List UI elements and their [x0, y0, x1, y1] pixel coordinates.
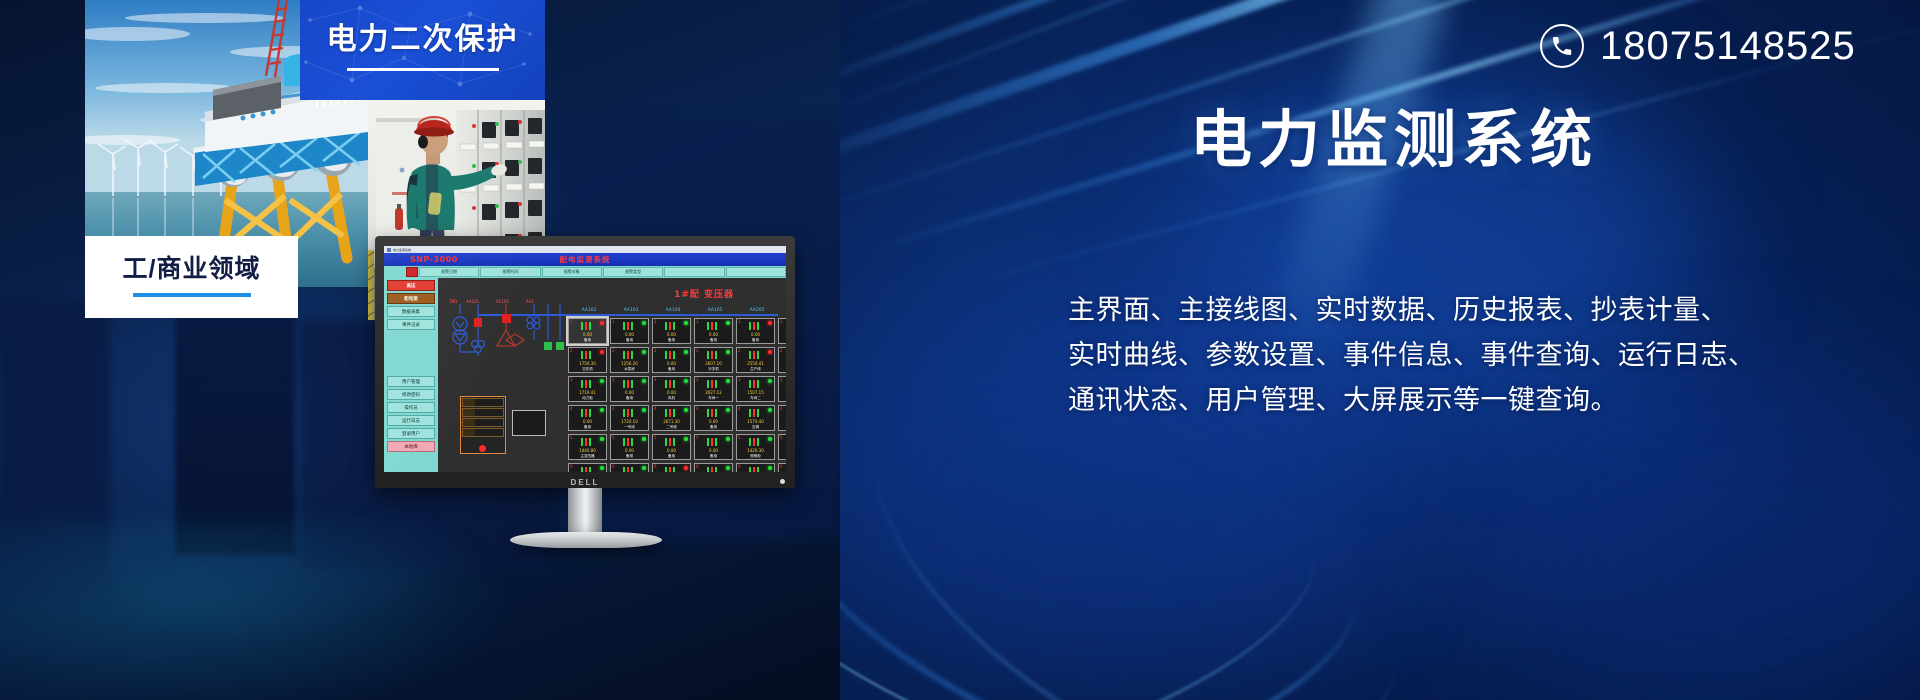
cell-value: 0.00 [569, 419, 606, 424]
cell-name: 备用 [611, 338, 648, 343]
sidebar-item-0[interactable]: 高压 [387, 280, 435, 291]
monitor-stand-base [510, 532, 662, 548]
cell-value: 0.00 [611, 448, 648, 453]
cell-phase-bars [623, 438, 633, 446]
cell-status-led [768, 437, 772, 441]
cell-phase-bars [581, 380, 591, 388]
cell-name: 空压机 [569, 367, 606, 372]
cell-phase-bars [665, 409, 675, 417]
cell-phase-bars [749, 380, 759, 388]
cell-index: 6 [570, 464, 573, 469]
sidebar-item-2[interactable]: 数据采集 [387, 306, 435, 317]
cell-value: 1750.30 [569, 361, 606, 366]
cell-name: 二号线 [653, 425, 690, 430]
cell-index: 6 [780, 464, 783, 469]
cell-phase-bars [749, 409, 759, 417]
monitor-power-led[interactable] [780, 479, 785, 484]
cell-value: 4442.10 [779, 448, 786, 453]
cell-phase-bars [707, 467, 717, 472]
cell-value: 0.00 [737, 332, 774, 337]
sidebar-item-1[interactable]: 配电室 [387, 293, 435, 304]
feeder-label-2: AA104 [652, 308, 694, 313]
cell-value: 0.00 [779, 332, 786, 337]
orange-panel-row [462, 428, 504, 437]
scada-banner: SNP-3000 配电监测系统 [384, 253, 786, 266]
cell-name: 动力柜 [569, 396, 606, 401]
cell-name: 备用 [737, 338, 774, 343]
orange-status-panel [460, 396, 506, 454]
cell-index: 5 [780, 435, 783, 440]
cell-value: 0.00 [611, 390, 648, 395]
cell-index: 1 [570, 319, 573, 324]
cell-index: 1 [612, 319, 615, 324]
device-cell-20[interactable]: 42671.30二号线 [652, 405, 691, 431]
cell-index: 4 [696, 406, 699, 411]
cell-value: 2890.60 [779, 361, 786, 366]
cell-value: 2342.10 [779, 419, 786, 424]
device-cell-grid[interactable]: 10.00备用10.00备用10.00备用10.00备用10.00备用10.00… [568, 318, 786, 472]
cell-index: 1 [738, 319, 741, 324]
device-cell-24[interactable]: 51440.80主变压器 [568, 434, 607, 460]
cell-phase-bars [707, 322, 717, 330]
cell-phase-bars [623, 467, 633, 472]
phone-icon [1540, 24, 1584, 68]
cell-value: 0.00 [653, 390, 690, 395]
sidebar-item-3[interactable]: 事件记录 [387, 319, 435, 330]
contact-phone[interactable]: 18075148525 [1540, 24, 1856, 68]
device-cell-30[interactable]: 60.00备用 [568, 463, 607, 472]
cell-value: 0.00 [653, 332, 690, 337]
device-cell-25[interactable]: 50.00备用 [610, 434, 649, 460]
cell-value: 0.00 [653, 361, 690, 366]
cell-status-led [642, 350, 646, 354]
device-cell-8[interactable]: 20.00备用 [652, 347, 691, 373]
cell-phase-bars [707, 351, 717, 359]
cell-value: 1256.20 [611, 361, 648, 366]
cell-name: 水泵房 [611, 367, 648, 372]
phone-number: 18075148525 [1600, 26, 1856, 66]
cell-phase-bars [623, 409, 633, 417]
badge-blue-label: 电力二次保护 [327, 25, 519, 55]
menu-item-1[interactable]: 报警时间 [480, 267, 540, 277]
diagram-title: 1#配 变压器 [674, 287, 734, 300]
cell-name: 备用 [779, 338, 786, 343]
device-cell-6[interactable]: 21750.30空压机 [568, 347, 607, 373]
cell-index: 5 [654, 435, 657, 440]
cell-status-led [684, 379, 688, 383]
feature-line-2: 实时曲线、参数设置、事件信息、事件查询、运行日志、 [1068, 333, 1868, 378]
cell-phase-bars [581, 409, 591, 417]
cell-index: 5 [738, 435, 741, 440]
feeder-label-4: AA205 [736, 308, 778, 313]
cell-index: 6 [738, 464, 741, 469]
device-cell-14[interactable]: 30.00风机 [652, 376, 691, 402]
badge-white-rule [133, 293, 251, 297]
cell-index: 5 [612, 435, 615, 440]
scada-screen: 电力监测系统 SNP-3000 配电监测系统 报警日期 报警时间 报警对象 报警… [384, 246, 786, 472]
menu-item-3[interactable]: 报警类型 [603, 267, 663, 277]
cell-value: 1730.30 [779, 390, 786, 395]
device-cell-2[interactable]: 10.00备用 [652, 318, 691, 344]
cell-value: 2671.30 [653, 419, 690, 424]
device-cell-29[interactable]: 54442.10动力 [778, 434, 786, 460]
device-cell-10[interactable]: 22550.41生产线 [736, 347, 775, 373]
cell-phase-bars [665, 467, 675, 472]
device-cell-31[interactable]: 60.00备用 [610, 463, 649, 472]
cell-index: 3 [654, 377, 657, 382]
device-cell-9[interactable]: 22607.10冷冻机 [694, 347, 733, 373]
cell-status-led [684, 350, 688, 354]
cell-status-led [768, 466, 772, 470]
cell-name: 备用 [611, 454, 648, 459]
scada-body: 高压配电室数据采集事件记录用户管理修改密码操作员运行日志登录用户本地库 1#配 … [384, 278, 786, 472]
cell-status-led [684, 408, 688, 412]
cell-name: 冷冻机 [695, 367, 732, 372]
device-cell-16[interactable]: 31507.15车间二 [736, 376, 775, 402]
cell-value: 0.00 [695, 332, 732, 337]
cell-value: 1570.40 [737, 419, 774, 424]
cell-index: 2 [570, 348, 573, 353]
cell-index: 2 [696, 348, 699, 353]
cell-name: 风机 [653, 396, 690, 401]
device-cell-13[interactable]: 30.00备用 [610, 376, 649, 402]
cell-status-led [600, 437, 604, 441]
cell-phase-bars [665, 322, 675, 330]
cell-index: 3 [696, 377, 699, 382]
cell-status-led [726, 321, 730, 325]
device-cell-1[interactable]: 10.00备用 [610, 318, 649, 344]
cell-status-led [642, 466, 646, 470]
device-cell-7[interactable]: 21256.20水泵房 [610, 347, 649, 373]
secondary-status-panel [512, 410, 546, 436]
device-cell-17[interactable]: 31730.30配电柜 [778, 376, 786, 402]
cell-name: 生产线 [737, 367, 774, 372]
cell-index: 4 [570, 406, 573, 411]
cell-status-led [768, 379, 772, 383]
device-cell-22[interactable]: 41570.40空调 [736, 405, 775, 431]
cell-phase-bars [623, 380, 633, 388]
cell-name: 照明 [779, 367, 786, 372]
cell-phase-bars [581, 351, 591, 359]
alarm-stop-button[interactable] [406, 267, 418, 277]
device-cell-11[interactable]: 22890.60照明 [778, 347, 786, 373]
cell-index: 4 [654, 406, 657, 411]
sidebar-item-9[interactable]: 本地库 [387, 441, 435, 452]
cell-status-led [642, 379, 646, 383]
cell-index: 2 [612, 348, 615, 353]
menu-item-0[interactable]: 报警日期 [419, 267, 479, 277]
monitor-display: 电力监测系统 SNP-3000 配电监测系统 报警日期 报警时间 报警对象 报警… [375, 236, 795, 536]
cell-name: 一号线 [611, 425, 648, 430]
sld-label-3: AA1 [526, 299, 534, 304]
sidebar-item-7[interactable]: 运行日志 [387, 415, 435, 426]
scada-main-panel: 1#配 变压器 [438, 278, 786, 472]
single-line-diagram: TM1 AA101 AC101 AA1 [444, 300, 564, 390]
cell-phase-bars [665, 380, 675, 388]
cell-phase-bars [749, 467, 759, 472]
sld-label-2: AC101 [496, 299, 509, 304]
cell-status-led [726, 408, 730, 412]
cell-name: 备用 [653, 454, 690, 459]
feeder-label-3: AA105 [694, 308, 736, 313]
cell-index: 5 [696, 435, 699, 440]
device-cell-23[interactable]: 42342.10备用 [778, 405, 786, 431]
badge-power-secondary-protection: 电力二次保护 [300, 0, 545, 100]
cell-value: 0.00 [611, 332, 648, 337]
banner-root: 电力二次保护 [0, 0, 1920, 700]
scada-window-titlebar: 电力监测系统 [384, 246, 786, 253]
cell-index: 3 [780, 377, 783, 382]
device-cell-3[interactable]: 10.00备用 [694, 318, 733, 344]
device-cell-26[interactable]: 50.00备用 [652, 434, 691, 460]
sld-label-1: AA101 [466, 299, 479, 304]
cell-status-led [768, 321, 772, 325]
cell-name: 备用 [569, 425, 606, 430]
cell-phase-bars [665, 351, 675, 359]
cell-value: 0.00 [695, 419, 732, 424]
device-cell-32[interactable]: 62871.10低压柜 [652, 463, 691, 472]
cell-value: 2607.10 [695, 361, 732, 366]
cell-value: 2627.12 [695, 390, 732, 395]
cell-value: 0.00 [569, 332, 606, 337]
cell-name: 备用 [779, 425, 786, 430]
device-cell-4[interactable]: 10.00备用 [736, 318, 775, 344]
cell-name: 备用 [695, 425, 732, 430]
device-cell-18[interactable]: 40.00备用 [568, 405, 607, 431]
cell-phase-bars [707, 380, 717, 388]
menu-item-5[interactable] [726, 267, 786, 277]
window-title: 电力监测系统 [393, 248, 411, 252]
cell-name: 车间二 [737, 396, 774, 401]
cell-status-led [642, 321, 646, 325]
cell-value: 1719.41 [569, 390, 606, 395]
cell-status-led [684, 321, 688, 325]
cell-name: 备用 [569, 338, 606, 343]
device-cell-0[interactable]: 10.00备用 [568, 318, 607, 344]
cell-phase-bars [665, 438, 675, 446]
menu-item-4[interactable] [664, 267, 724, 277]
cell-phase-bars [581, 322, 591, 330]
device-cell-27[interactable]: 50.00备用 [694, 434, 733, 460]
scada-system-name: 配电监测系统 [384, 254, 786, 265]
cell-status-led [600, 408, 604, 412]
cell-value: 0.00 [695, 448, 732, 453]
cell-value: 1440.80 [569, 448, 606, 453]
badge-white-label: 工/商业领域 [123, 257, 261, 282]
orange-panel-row [462, 398, 504, 407]
cell-status-led [600, 379, 604, 383]
monitor-bezel: 电力监测系统 SNP-3000 配电监测系统 报警日期 报警时间 报警对象 报警… [375, 236, 795, 488]
page-title: 电力监测系统 [1190, 104, 1598, 177]
cell-value: 1507.15 [737, 390, 774, 395]
device-cell-19[interactable]: 41720.10一号线 [610, 405, 649, 431]
device-cell-35[interactable]: 63670.10备用 [778, 463, 786, 472]
cell-status-led [726, 350, 730, 354]
device-cell-15[interactable]: 32627.12车间一 [694, 376, 733, 402]
cell-phase-bars [749, 438, 759, 446]
cell-value: 0.00 [653, 448, 690, 453]
orange-panel-row [462, 418, 504, 427]
scada-sidebar[interactable]: 高压配电室数据采集事件记录用户管理修改密码操作员运行日志登录用户本地库 [384, 278, 438, 472]
cell-phase-bars [581, 438, 591, 446]
cell-status-led [684, 437, 688, 441]
cell-value: 1720.10 [611, 419, 648, 424]
cell-index: 4 [780, 406, 783, 411]
window-icon [387, 248, 391, 252]
cell-index: 3 [570, 377, 573, 382]
menu-item-2[interactable]: 报警对象 [542, 267, 602, 277]
cell-status-led [726, 466, 730, 470]
orange-panel-row [462, 408, 504, 417]
cell-value: 2550.41 [737, 361, 774, 366]
badge-blue-rule [347, 68, 499, 71]
cell-name: 主变压器 [569, 454, 606, 459]
device-cell-12[interactable]: 31719.41动力柜 [568, 376, 607, 402]
monitor-brand-logo: DELL [375, 478, 795, 487]
cell-index: 3 [738, 377, 741, 382]
device-cell-33[interactable]: 60.00备用 [694, 463, 733, 472]
device-cell-21[interactable]: 40.00备用 [694, 405, 733, 431]
cell-index: 4 [612, 406, 615, 411]
device-cell-34[interactable]: 60.00备用 [736, 463, 775, 472]
feature-line-3: 通讯状态、用户管理、大屏展示等一键查询。 [1068, 378, 1868, 423]
scada-menubar[interactable]: 报警日期 报警时间 报警对象 报警类型 [384, 266, 786, 278]
cell-status-led [768, 408, 772, 412]
cell-index: 6 [696, 464, 699, 469]
cell-index: 5 [570, 435, 573, 440]
sidebar-item-8[interactable]: 登录用户 [387, 428, 435, 439]
cell-status-led [768, 350, 772, 354]
cell-name: 配电柜 [779, 396, 786, 401]
cell-index: 1 [780, 319, 783, 324]
cell-index: 2 [738, 348, 741, 353]
feature-line-1: 主界面、主接线图、实时数据、历史报表、抄表计量、 [1068, 288, 1868, 333]
device-cell-5[interactable]: 10.00备用 [778, 318, 786, 344]
cell-name: 备用 [611, 396, 648, 401]
cell-name: 动力 [779, 454, 786, 459]
cell-status-led [642, 408, 646, 412]
feature-description: 主界面、主接线图、实时数据、历史报表、抄表计量、 实时曲线、参数设置、事件信息、… [1068, 288, 1868, 423]
cell-name: 备用 [695, 338, 732, 343]
cell-phase-bars [623, 351, 633, 359]
cell-value: 1420.30 [737, 448, 774, 453]
cell-status-led [600, 321, 604, 325]
sidebar-item-5[interactable]: 修改密码 [387, 389, 435, 400]
feeder-label-row: AA102 AA103 AA104 AA105 AA205 AA204 [568, 308, 786, 313]
badge-industrial-commercial-field: 工/商业领域 [85, 236, 298, 318]
cell-name: 照明柜 [737, 454, 774, 459]
feeder-label-0: AA102 [568, 308, 610, 313]
feeder-label-5: AA204 [778, 308, 786, 313]
cell-index: 6 [654, 464, 657, 469]
cell-index: 6 [612, 464, 615, 469]
cell-phase-bars [749, 322, 759, 330]
cell-phase-bars [581, 467, 591, 472]
cell-phase-bars [749, 351, 759, 359]
cell-index: 2 [654, 348, 657, 353]
cell-phase-bars [707, 438, 717, 446]
cell-name: 备用 [653, 367, 690, 372]
cell-status-led [726, 437, 730, 441]
cell-phase-bars [707, 409, 717, 417]
cell-name: 备用 [653, 338, 690, 343]
cell-phase-bars [623, 322, 633, 330]
cell-status-led [726, 379, 730, 383]
cell-index: 3 [612, 377, 615, 382]
cell-name: 车间一 [695, 396, 732, 401]
sidebar-item-6[interactable]: 操作员 [387, 402, 435, 413]
cell-index: 1 [696, 319, 699, 324]
cell-status-led [684, 466, 688, 470]
feeder-label-1: AA103 [610, 308, 652, 313]
cell-index: 1 [654, 319, 657, 324]
cell-index: 4 [738, 406, 741, 411]
device-cell-28[interactable]: 51420.30照明柜 [736, 434, 775, 460]
panel-alarm-indicator [479, 445, 486, 452]
cell-status-led [600, 466, 604, 470]
cell-name: 备用 [695, 454, 732, 459]
cell-name: 空调 [737, 425, 774, 430]
sld-label-0: TM1 [449, 299, 457, 304]
cell-status-led [642, 437, 646, 441]
sidebar-item-4[interactable]: 用户管理 [387, 376, 435, 387]
cell-index: 2 [780, 348, 783, 353]
cell-status-led [600, 350, 604, 354]
